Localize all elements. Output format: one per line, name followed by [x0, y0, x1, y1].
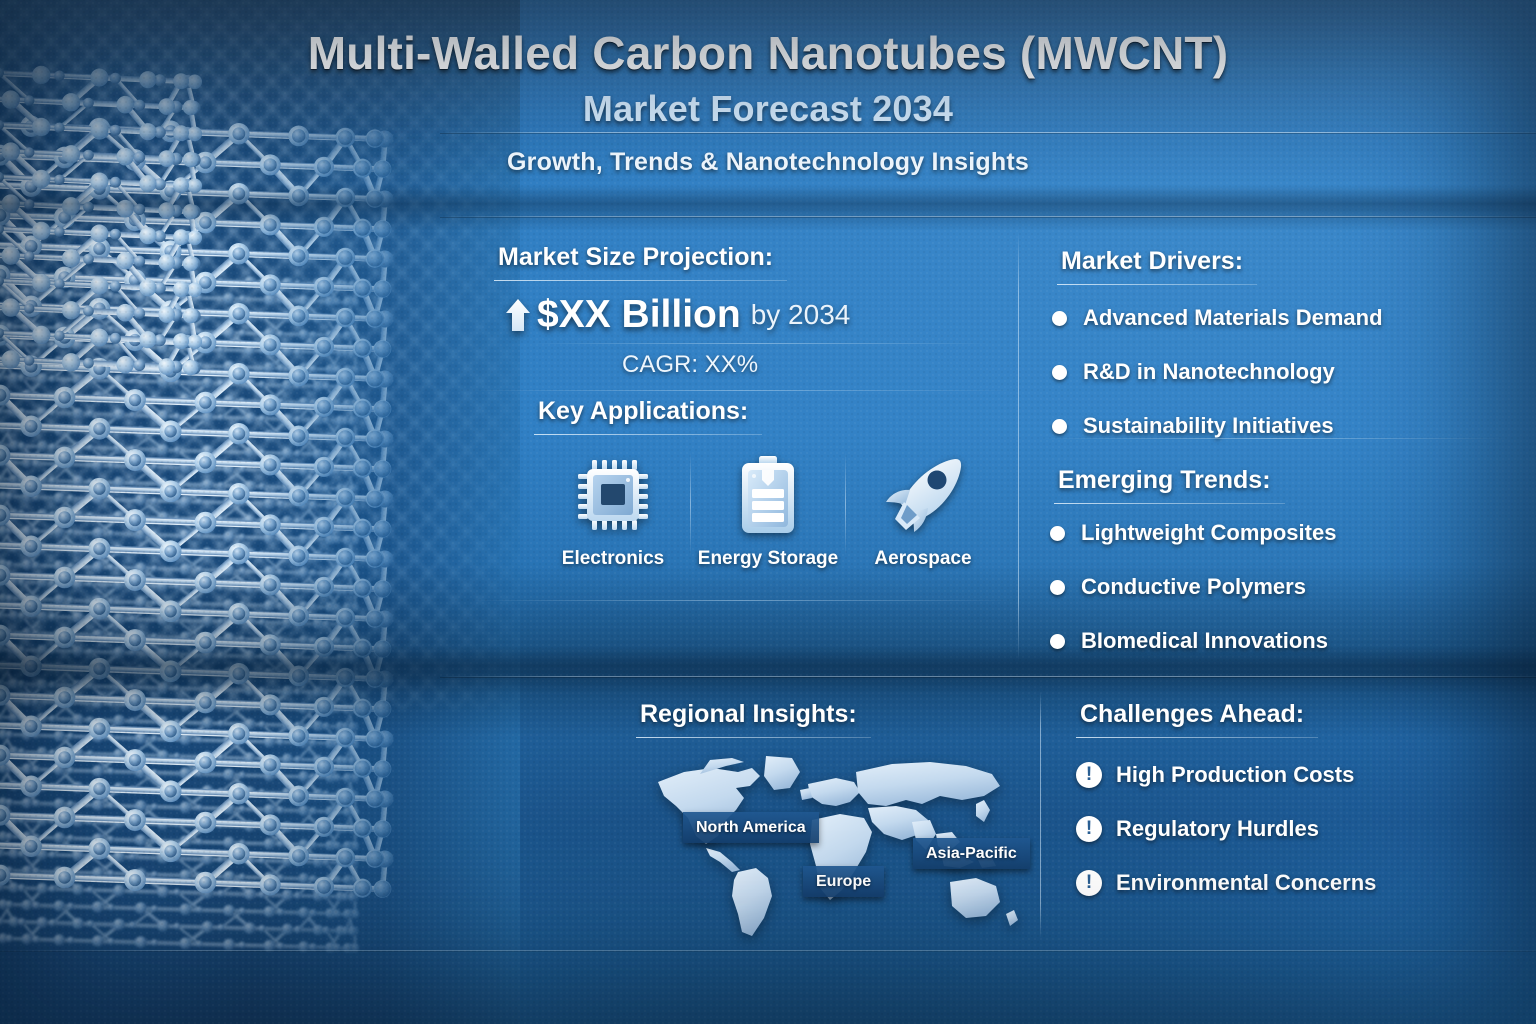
applications-bottom-rule: [470, 600, 1015, 601]
application-item-aerospace[interactable]: Aerospace: [848, 452, 998, 570]
list-item[interactable]: ! Regulatory Hurdles: [1076, 816, 1376, 842]
warning-exclamation-icon: !: [1076, 762, 1102, 788]
bullet-dot-icon: [1050, 580, 1065, 595]
challenge-label: High Production Costs: [1116, 762, 1354, 788]
trend-label: Lightweight Composites: [1081, 520, 1336, 546]
header-divider: [440, 132, 1536, 133]
application-label: Energy Storage: [698, 548, 838, 570]
challenge-label: Environmental Concerns: [1116, 870, 1376, 896]
market-size-value: $XX Billion: [537, 293, 741, 337]
list-item[interactable]: BIomedical Innovations: [1050, 628, 1336, 654]
challenges-list: ! High Production Costs ! Regulatory Hur…: [1076, 762, 1376, 924]
bullet-dot-icon: [1052, 311, 1067, 326]
rocket-icon: [880, 452, 966, 538]
page-title: Multi-Walled Carbon Nanotubes (MWCNT): [0, 26, 1536, 80]
bullet-dot-icon: [1052, 365, 1067, 380]
region-label: Asia-Pacific: [926, 845, 1017, 863]
bullet-dot-icon: [1050, 526, 1065, 541]
application-separator: [690, 452, 691, 556]
application-item-electronics[interactable]: Electronics: [538, 452, 688, 570]
upper-column-divider: [1018, 232, 1019, 660]
trends-list: Lightweight Composites Conductive Polyme…: [1050, 520, 1336, 682]
drivers-heading: Market Drivers:: [1061, 247, 1243, 276]
driver-label: Advanced Materials Demand: [1083, 305, 1383, 331]
driver-label: Sustainability Initiatives: [1083, 413, 1334, 439]
market-size-suffix: by 2034: [747, 299, 851, 331]
region-badge-asia-pacific[interactable]: Asia-Pacific: [913, 838, 1030, 869]
application-label: Electronics: [562, 548, 664, 570]
applications-list: Electronics: [538, 452, 998, 570]
infographic-root: Multi-Walled Carbon Nanotubes (MWCNT) Ma…: [0, 0, 1536, 1024]
lower-column-divider: [1040, 692, 1041, 938]
list-item[interactable]: Advanced Materials Demand: [1052, 305, 1383, 331]
region-label: North America: [696, 819, 806, 837]
region-badge-north-america[interactable]: North America: [683, 812, 819, 843]
list-item[interactable]: Sustainability Initiatives: [1052, 413, 1383, 439]
mid-shadow-band: [0, 185, 1536, 231]
trend-label: Conductive Polymers: [1081, 574, 1306, 600]
market-size-heading: Market Size Projection:: [498, 243, 773, 272]
list-item[interactable]: ! Environmental Concerns: [1076, 870, 1376, 896]
trends-top-rule: [1040, 438, 1510, 439]
up-arrow-icon: [505, 298, 531, 332]
applications-top-rule: [470, 390, 1015, 391]
cagr-value: CAGR: XX%: [622, 351, 758, 379]
list-item[interactable]: R&D in Nanotechnology: [1052, 359, 1383, 385]
page-tagline: Growth, Trends & Nanotechnology Insights: [0, 148, 1536, 177]
bullet-dot-icon: [1050, 634, 1065, 649]
list-item[interactable]: ! High Production Costs: [1076, 762, 1376, 788]
applications-heading: Key Applications:: [538, 397, 748, 426]
trends-heading: Emerging Trends:: [1058, 466, 1271, 495]
drivers-list: Advanced Materials Demand R&D in Nanotec…: [1052, 305, 1383, 467]
challenges-heading: Challenges Ahead:: [1080, 700, 1304, 729]
application-item-energy-storage[interactable]: Energy Storage: [693, 452, 843, 570]
market-size-rule: [530, 343, 990, 344]
application-label: Aerospace: [874, 548, 971, 570]
bullet-dot-icon: [1052, 419, 1067, 434]
warning-exclamation-icon: !: [1076, 816, 1102, 842]
application-separator: [845, 452, 846, 556]
regional-heading: Regional Insights:: [640, 700, 857, 729]
page-subtitle: Market Forecast 2034: [0, 88, 1536, 130]
footer-divider: [0, 950, 1536, 951]
warning-exclamation-icon: !: [1076, 870, 1102, 896]
trend-label: BIomedical Innovations: [1081, 628, 1328, 654]
market-size-value-row: $XX Billion by 2034: [505, 293, 850, 337]
challenge-label: Regulatory Hurdles: [1116, 816, 1319, 842]
driver-label: R&D in Nanotechnology: [1083, 359, 1335, 385]
list-item[interactable]: Conductive Polymers: [1050, 574, 1336, 600]
region-badge-europe[interactable]: Europe: [803, 866, 884, 897]
cpu-chip-icon: [574, 452, 652, 538]
battery-icon: [737, 452, 799, 538]
list-item[interactable]: Lightweight Composites: [1050, 520, 1336, 546]
region-label: Europe: [816, 873, 871, 891]
